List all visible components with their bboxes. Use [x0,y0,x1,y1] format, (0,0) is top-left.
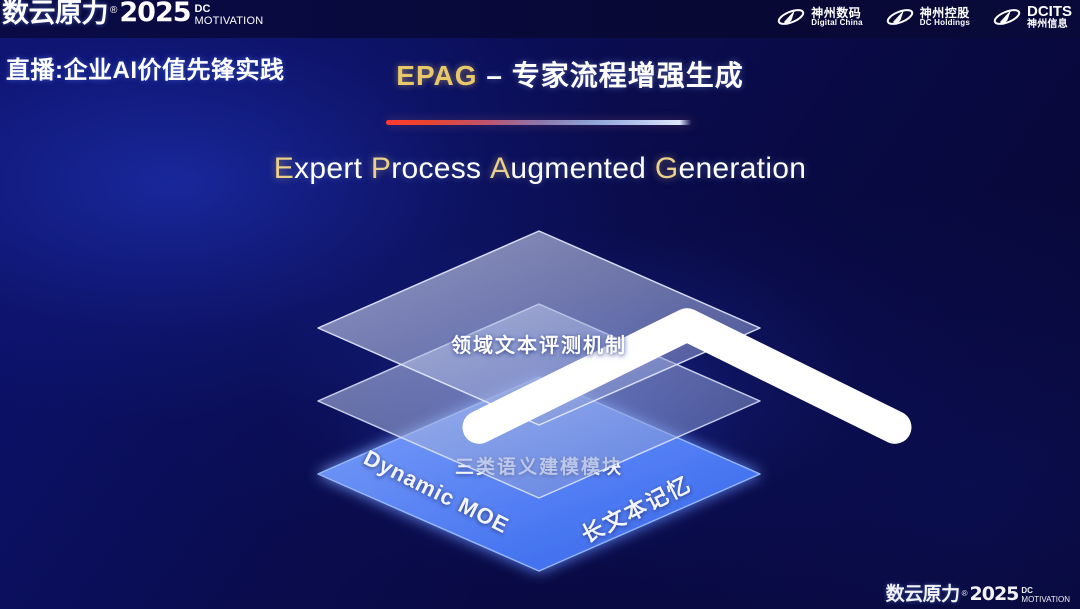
partner-logo-text: 神州数码 Digital China [811,7,863,28]
brand-dc: DC [195,4,264,15]
stack-layer-top[interactable]: 领域文本评测机制 [313,228,765,434]
watermark-registered-mark: ® [962,589,968,598]
partner-logo-dc-holdings: 神州控股 DC Holdings [885,5,970,29]
registered-mark: ® [110,2,117,19]
isometric-layer-stack: 三类语义建模模块 Dynamic MOE 长文本记忆 [313,228,765,558]
subtitle-rest-process: rocess [391,152,481,185]
subtitle-cap-a: A [490,152,510,185]
footer-watermark-logo: 数云原力 ® 2025 DC MOTIVATION [886,584,1070,605]
swoosh-icon [992,5,1022,29]
subtitle-cap-p: P [371,152,391,185]
swoosh-icon [885,5,915,29]
subtitle-rest-expert: xpert [294,152,362,185]
watermark-name-cn: 数云原力 [886,584,960,605]
subtitle-rest-generation: eneration [678,152,806,185]
title-separator: – [478,60,512,91]
brand-motivation: MOTIVATION [195,16,264,27]
title-chinese: 专家流程增强生成 [512,60,744,91]
partner-name-cn: DCITS [1027,4,1072,20]
brand-dc-motivation: DC MOTIVATION [195,4,264,27]
layer-label-top: 领域文本评测机制 [313,329,765,358]
partner-name-en: DC Holdings [920,19,970,27]
watermark-dc-motivation: DC MOTIVATION [1021,587,1070,604]
partner-name-en: 神州信息 [1027,20,1072,31]
subtitle-cap-g: G [655,152,679,185]
subtitle-rest-augmented: ugmented [510,152,646,185]
swoosh-icon [776,5,806,29]
partner-logo-digital-china: 神州数码 Digital China [776,5,863,29]
watermark-year: 2025 [970,584,1019,605]
live-stream-title: 直播:企业AI价值先锋实践 [6,50,285,85]
brand-name-cn: 数云原力 [2,0,108,28]
chevron-up-icon [461,270,611,318]
brand-logo: 数云原力 ® 2025 DC MOTIVATION [2,0,263,28]
brand-year: 2025 [119,0,190,28]
partner-logo-text: 神州控股 DC Holdings [920,7,970,28]
partner-logo-dcits: DCITS 神州信息 [992,4,1072,30]
title-divider [386,120,692,125]
partner-logo-text: DCITS 神州信息 [1027,4,1072,30]
partner-name-en: Digital China [811,19,863,27]
subtitle-cap-e: E [274,152,294,185]
slide-canvas: 数云原力 ® 2025 DC MOTIVATION 直播:企业AI价值先锋实践 … [0,0,1080,609]
page-subtitle: Expert Process Augmented Generation [0,152,1080,186]
watermark-dc: DC [1021,587,1070,595]
partner-logo-group: 神州数码 Digital China 神州控股 DC Holdings [776,4,1072,30]
watermark-motivation: MOTIVATION [1021,596,1070,604]
title-acronym: EPAG [396,60,477,91]
